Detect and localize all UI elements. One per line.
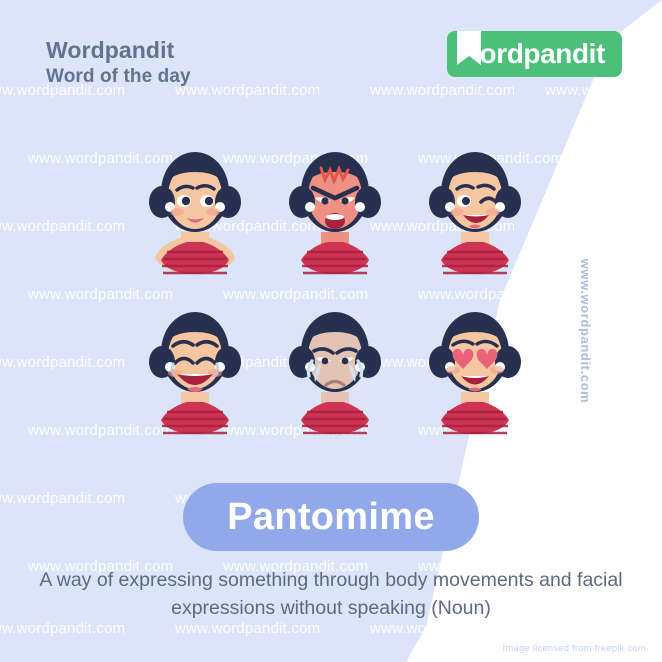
expressions-grid (125, 128, 545, 448)
word-of-the-day-card: www.wordpandit.comwww.wordpandit.comwww.… (0, 0, 662, 662)
face-crying (265, 288, 405, 448)
watermark-side-text: www.wordpandit.com (578, 259, 593, 404)
brand-subtitle: Word of the day (46, 65, 191, 88)
face-laughing (125, 288, 265, 448)
wordpandit-logo[interactable]: ordpandit (447, 31, 623, 77)
face-in-love (405, 288, 545, 448)
image-credit: Image licensed from freepik.com (503, 643, 646, 654)
face-smiling (125, 128, 265, 288)
brand-name: Wordpandit (46, 36, 191, 64)
definition-line-1: A way of expressing something through bo… (39, 569, 622, 591)
face-angry (265, 128, 405, 288)
face-winking (405, 128, 545, 288)
word-term: Pantomime (227, 496, 435, 539)
bookmark-w-icon (455, 31, 483, 77)
word-badge: Pantomime (183, 483, 479, 551)
logo-wordmark: ordpandit (480, 40, 606, 68)
word-definition: A way of expressing something through bo… (0, 566, 662, 623)
definition-line-2: expressions without speaking (Noun) (22, 594, 640, 622)
header-text-block: Wordpandit Word of the day (46, 36, 191, 88)
